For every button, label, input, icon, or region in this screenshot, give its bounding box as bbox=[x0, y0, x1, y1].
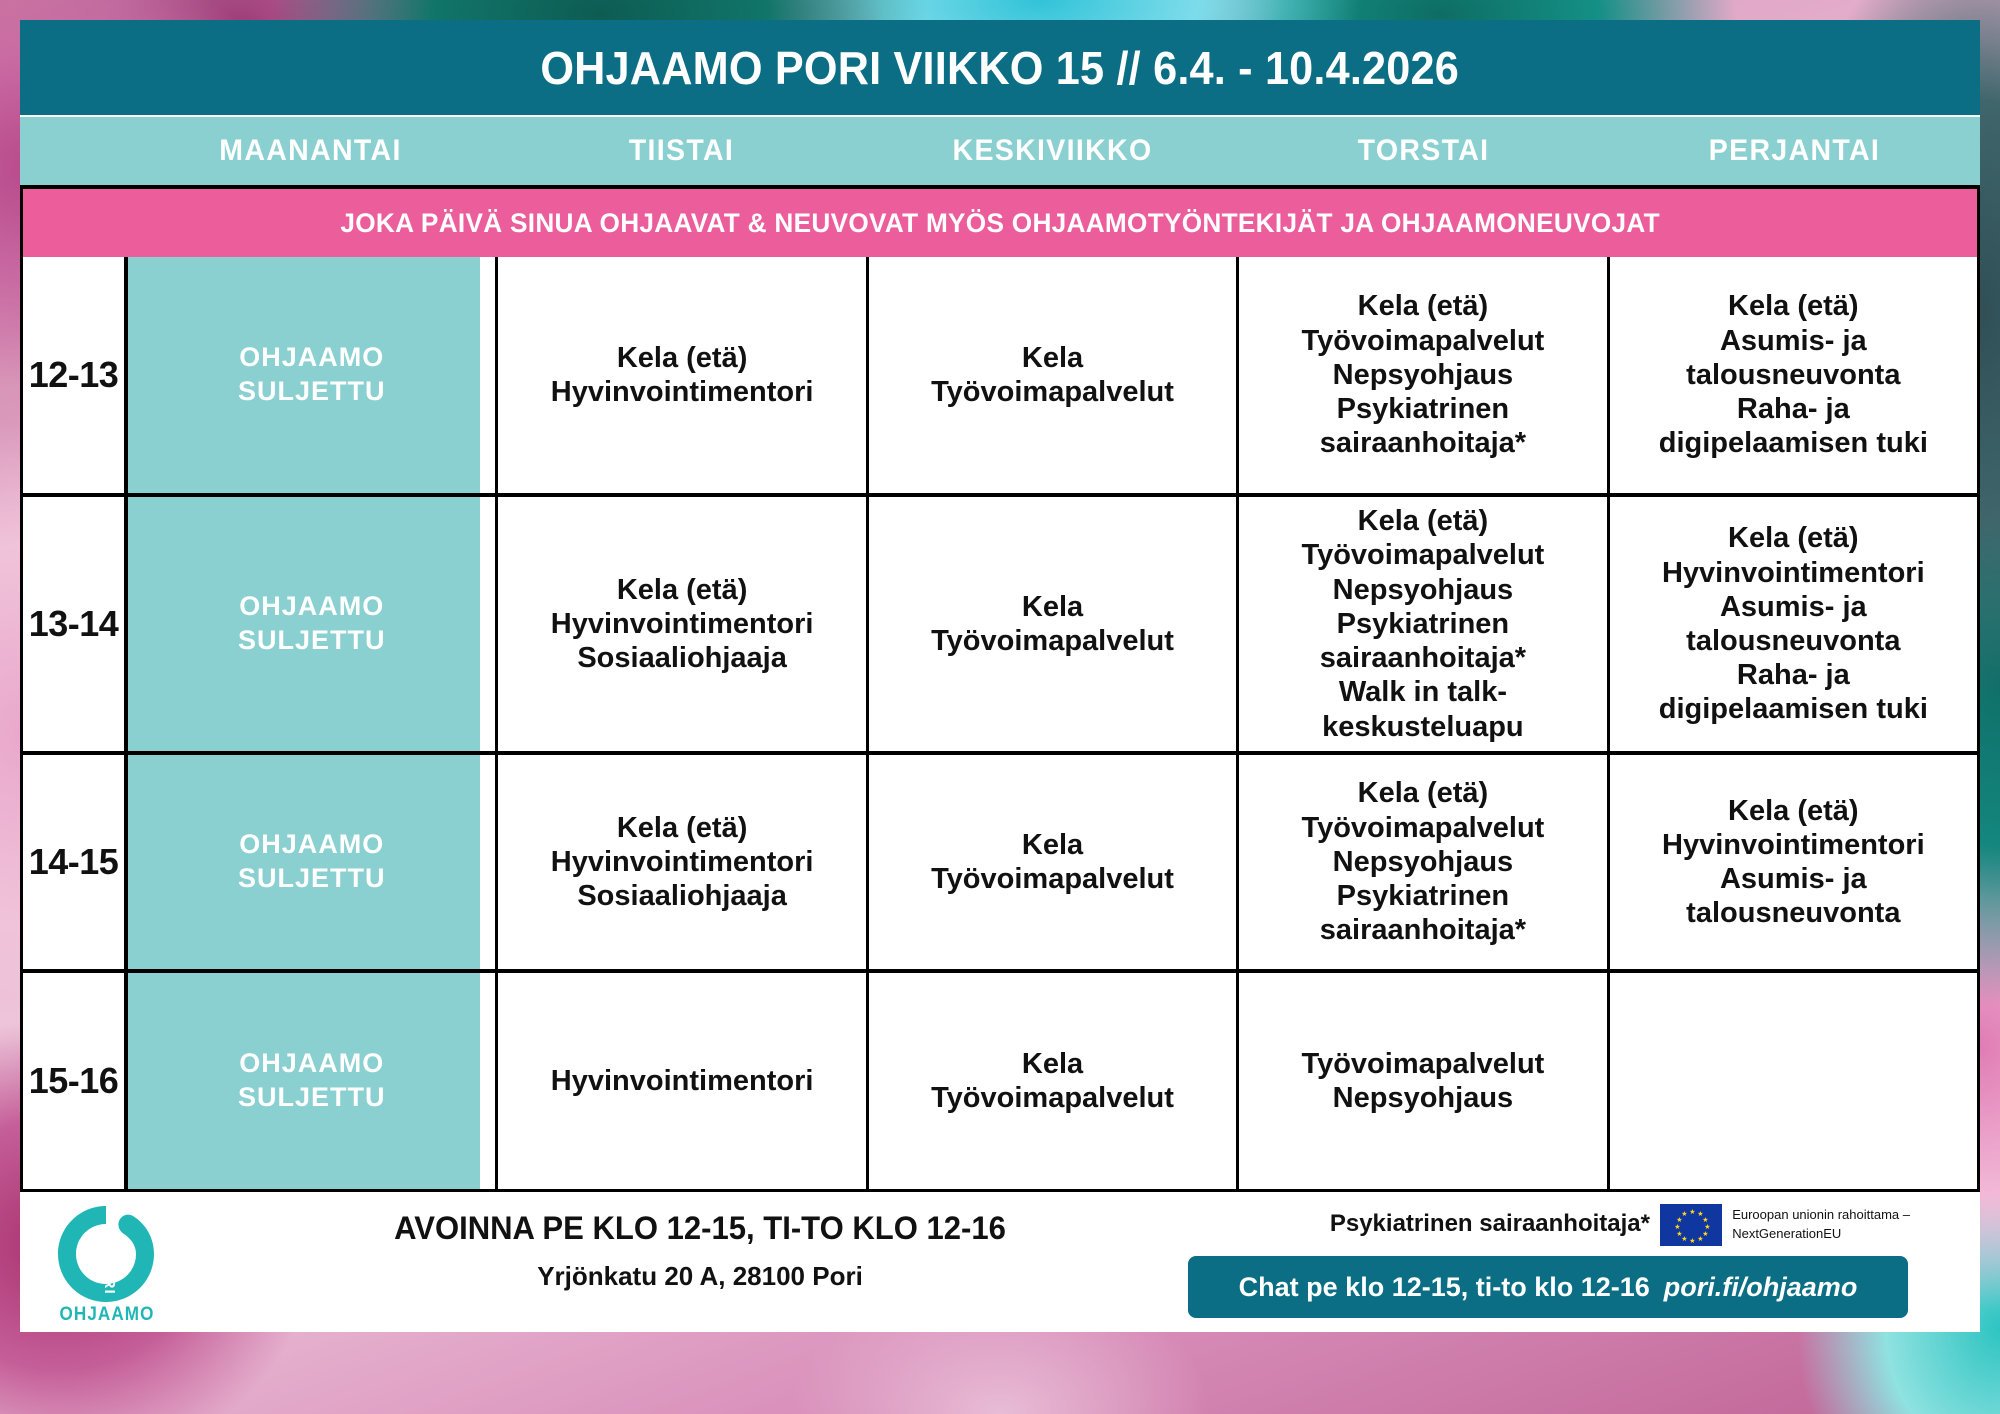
time-label: 13-14 bbox=[23, 497, 128, 751]
table-row: 13-14 OHJAAMOSULJETTU Kela (etä)Hyvinvoi… bbox=[23, 497, 1977, 755]
day-header-tiistai: TIISTAI bbox=[505, 134, 857, 168]
cell-torstai: TyövoimapalvelutNepsyohjaus bbox=[1239, 973, 1609, 1189]
cell-maanantai: OHJAAMOSULJETTU bbox=[128, 497, 498, 751]
cell-keskiviikko: KelaTyövoimapalvelut bbox=[869, 497, 1239, 751]
nurse-footnote: Psykiatrinen sairaanhoitaja* bbox=[1330, 1210, 1650, 1238]
day-header-torstai: TORSTAI bbox=[1247, 134, 1599, 168]
schedule-grid: 12-13 OHJAAMOSULJETTU Kela (etä)Hyvinvoi… bbox=[20, 257, 1980, 1192]
table-row: 14-15 OHJAAMOSULJETTU Kela (etä)Hyvinvoi… bbox=[23, 755, 1977, 973]
eu-funding-line-2: NextGenerationEU bbox=[1732, 1225, 1910, 1244]
cell-perjantai: Kela (etä)HyvinvointimentoriAsumis- jata… bbox=[1610, 497, 1977, 751]
cell-perjantai: Kela (etä)HyvinvointimentoriAsumis- jata… bbox=[1610, 755, 1977, 969]
opening-hours-block: AVOINNA PE KLO 12-15, TI-TO KLO 12-16 Yr… bbox=[220, 1210, 1180, 1292]
address-text: Yrjönkatu 20 A, 28100 Pori bbox=[220, 1261, 1180, 1292]
day-header-keskiviikko: KESKIVIIKKO bbox=[876, 134, 1228, 168]
ohjaamo-mark-icon: PORI bbox=[56, 1204, 156, 1304]
cell-tiistai: Kela (etä)HyvinvointimentoriSosiaaliohja… bbox=[498, 755, 868, 969]
opening-hours-text: AVOINNA PE KLO 12-15, TI-TO KLO 12-16 bbox=[234, 1210, 1165, 1247]
cell-torstai: Kela (etä)TyövoimapalvelutNepsyohjausPsy… bbox=[1239, 257, 1609, 493]
cell-torstai: Kela (etä)TyövoimapalvelutNepsyohjausPsy… bbox=[1239, 755, 1609, 969]
day-header-row: MAANANTAI TIISTAI KESKIVIIKKO TORSTAI PE… bbox=[20, 117, 1980, 189]
logo-pori-label: PORI bbox=[101, 1254, 118, 1295]
cell-keskiviikko: KelaTyövoimapalvelut bbox=[869, 755, 1239, 969]
page-title: OHJAAMO PORI VIIKKO 15 // 6.4. - 10.4.20… bbox=[541, 41, 1460, 95]
table-row: 15-16 OHJAAMOSULJETTU Hyvinvointimentori… bbox=[23, 973, 1977, 1189]
chat-url-link[interactable]: pori.fi/ohjaamo bbox=[1664, 1272, 1858, 1303]
poster-footer: PORI OHJAAMO AVOINNA PE KLO 12-15, TI-TO… bbox=[20, 1192, 1980, 1332]
time-label: 12-13 bbox=[23, 257, 128, 493]
daily-guidance-banner: JOKA PÄIVÄ SINUA OHJAAVAT & NEUVOVAT MYÖ… bbox=[20, 189, 1980, 257]
eu-flag-icon: ★ ★ ★ ★ ★ ★ ★ ★ ★ ★ ★ ★ bbox=[1660, 1204, 1722, 1246]
cell-keskiviikko: KelaTyövoimapalvelut bbox=[869, 257, 1239, 493]
cell-perjantai: Kela (etä)Asumis- jatalousneuvontaRaha- … bbox=[1610, 257, 1977, 493]
day-header-perjantai: PERJANTAI bbox=[1618, 134, 1970, 168]
cell-maanantai: OHJAAMOSULJETTU bbox=[128, 973, 498, 1189]
time-label: 15-16 bbox=[23, 973, 128, 1189]
eu-funding-line-1: Euroopan unionin rahoittama – bbox=[1732, 1206, 1910, 1225]
cell-maanantai: OHJAAMOSULJETTU bbox=[128, 755, 498, 969]
time-label: 14-15 bbox=[23, 755, 128, 969]
ohjaamo-logo: PORI OHJAAMO bbox=[42, 1204, 172, 1330]
daily-guidance-banner-text: JOKA PÄIVÄ SINUA OHJAAVAT & NEUVOVAT MYÖ… bbox=[340, 208, 1660, 239]
cell-maanantai: OHJAAMOSULJETTU bbox=[128, 257, 498, 493]
chat-hours-text: Chat pe klo 12-15, ti-to klo 12-16 bbox=[1239, 1272, 1650, 1303]
day-header-maanantai: MAANANTAI bbox=[134, 134, 486, 168]
cell-tiistai: Kela (etä)Hyvinvointimentori bbox=[498, 257, 868, 493]
cell-tiistai: Kela (etä)HyvinvointimentoriSosiaaliohja… bbox=[498, 497, 868, 751]
chat-banner[interactable]: Chat pe klo 12-15, ti-to klo 12-16 pori.… bbox=[1188, 1256, 1908, 1318]
weekly-schedule-poster: OHJAAMO PORI VIIKKO 15 // 6.4. - 10.4.20… bbox=[20, 20, 1980, 1394]
table-row: 12-13 OHJAAMOSULJETTU Kela (etä)Hyvinvoi… bbox=[23, 257, 1977, 497]
logo-wordmark: OHJAAMO bbox=[49, 1304, 166, 1326]
eu-funding-text: Euroopan unionin rahoittama – NextGenera… bbox=[1732, 1206, 1910, 1244]
poster-title-bar: OHJAAMO PORI VIIKKO 15 // 6.4. - 10.4.20… bbox=[20, 20, 1980, 117]
cell-perjantai bbox=[1610, 973, 1977, 1189]
cell-torstai: Kela (etä)TyövoimapalvelutNepsyohjausPsy… bbox=[1239, 497, 1609, 751]
eu-funding-badge: ★ ★ ★ ★ ★ ★ ★ ★ ★ ★ ★ ★ Euroopan unionin… bbox=[1660, 1204, 1910, 1246]
cell-tiistai: Hyvinvointimentori bbox=[498, 973, 868, 1189]
cell-keskiviikko: KelaTyövoimapalvelut bbox=[869, 973, 1239, 1189]
